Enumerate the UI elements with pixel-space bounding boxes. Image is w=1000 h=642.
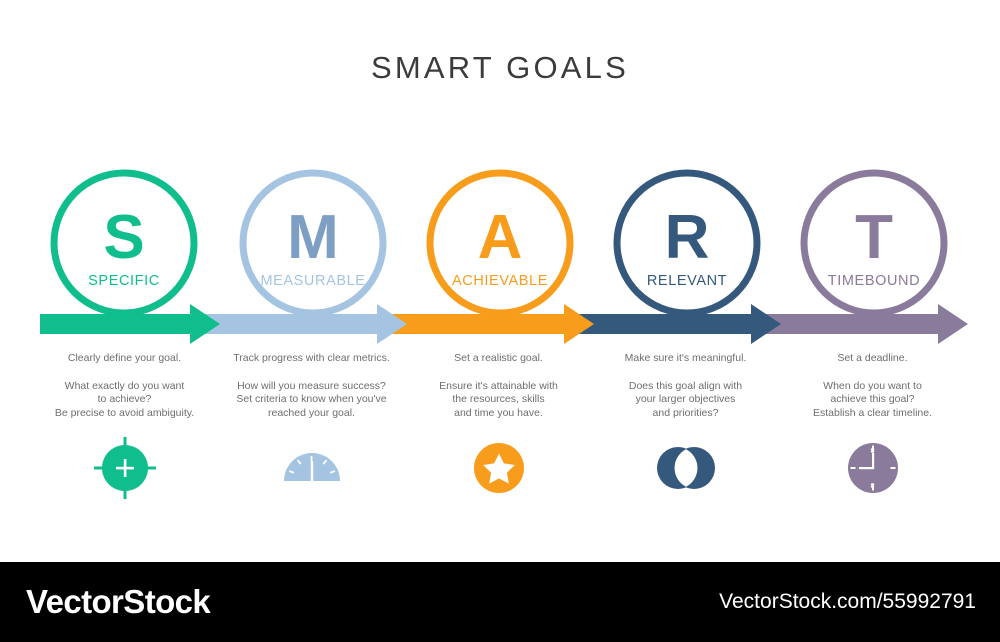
label-measurable: MEASURABLE <box>260 273 365 289</box>
desc-line: reached your goal. <box>218 407 405 421</box>
desc-line: Set criteria to know when you've <box>218 393 405 407</box>
description-column-specific: Clearly define your goal. What exactly d… <box>31 352 218 432</box>
desc-line: What exactly do you want <box>31 380 218 394</box>
clock-icon <box>841 436 905 500</box>
desc-line: Be precise to avoid ambiguity. <box>31 407 218 421</box>
letter-s: S <box>103 203 144 272</box>
icon-cell-measurable <box>218 432 405 504</box>
label-specific: SPECIFIC <box>88 273 160 289</box>
letter-t: T <box>855 203 893 272</box>
letter-a: A <box>478 203 523 272</box>
infographic-page: SMART GOALS <box>0 0 1000 642</box>
desc-headline: Track progress with clear metrics. <box>218 352 405 366</box>
desc-line: Ensure it's attainable with <box>405 380 592 394</box>
desc-body: What exactly do you want to achieve? Be … <box>31 380 218 421</box>
description-column-timebound: Set a deadline. When do you want to achi… <box>779 352 966 432</box>
desc-line: When do you want to <box>779 380 966 394</box>
icons-row <box>0 432 1000 504</box>
desc-line: to achieve? <box>31 393 218 407</box>
desc-headline: Make sure it's meaningful. <box>592 352 779 366</box>
desc-headline: Set a realistic goal. <box>405 352 592 366</box>
description-column-relevant: Make sure it's meaningful. Does this goa… <box>592 352 779 432</box>
icon-cell-timebound <box>779 432 966 504</box>
desc-line: your larger objectives <box>592 393 779 407</box>
page-title: SMART GOALS <box>0 50 1000 86</box>
descriptions-row: Clearly define your goal. What exactly d… <box>0 352 1000 432</box>
band-svg: S M A R T SPECIFIC MEASURABLE ACHIEVABLE… <box>0 150 1000 350</box>
desc-line: achieve this goal? <box>779 393 966 407</box>
venn-circles-icon <box>654 436 718 500</box>
icon-cell-specific <box>31 432 218 504</box>
vectorstock-url: VectorStock.com/55992791 <box>719 590 976 614</box>
star-icon <box>467 436 531 500</box>
footer-bar: VectorStock VectorStock.com/55992791 <box>0 562 1000 642</box>
icon-cell-achievable <box>405 432 592 504</box>
desc-body: When do you want to achieve this goal? E… <box>779 380 966 421</box>
smart-process-band: S M A R T SPECIFIC MEASURABLE ACHIEVABLE… <box>0 150 1000 350</box>
desc-body: How will you measure success? Set criter… <box>218 380 405 421</box>
description-column-measurable: Track progress with clear metrics. How w… <box>218 352 405 432</box>
icon-cell-relevant <box>592 432 779 504</box>
description-column-achievable: Set a realistic goal. Ensure it's attain… <box>405 352 592 432</box>
desc-headline: Clearly define your goal. <box>31 352 218 366</box>
desc-line: Establish a clear timeline. <box>779 407 966 421</box>
letter-r: R <box>665 203 710 272</box>
target-crosshair-icon <box>93 436 157 500</box>
desc-line: Does this goal align with <box>592 380 779 394</box>
label-achievable: ACHIEVABLE <box>452 273 548 289</box>
desc-body: Does this goal align with your larger ob… <box>592 380 779 421</box>
gauge-icon <box>280 436 344 500</box>
label-timebound: TIMEBOUND <box>828 273 920 289</box>
label-relevant: RELEVANT <box>647 273 727 289</box>
letter-m: M <box>287 203 339 272</box>
desc-line: and time you have. <box>405 407 592 421</box>
desc-line: and priorities? <box>592 407 779 421</box>
desc-body: Ensure it's attainable with the resource… <box>405 380 592 421</box>
desc-line: the resources, skills <box>405 393 592 407</box>
desc-line: How will you measure success? <box>218 380 405 394</box>
vectorstock-logo: VectorStock <box>26 583 210 621</box>
desc-headline: Set a deadline. <box>779 352 966 366</box>
